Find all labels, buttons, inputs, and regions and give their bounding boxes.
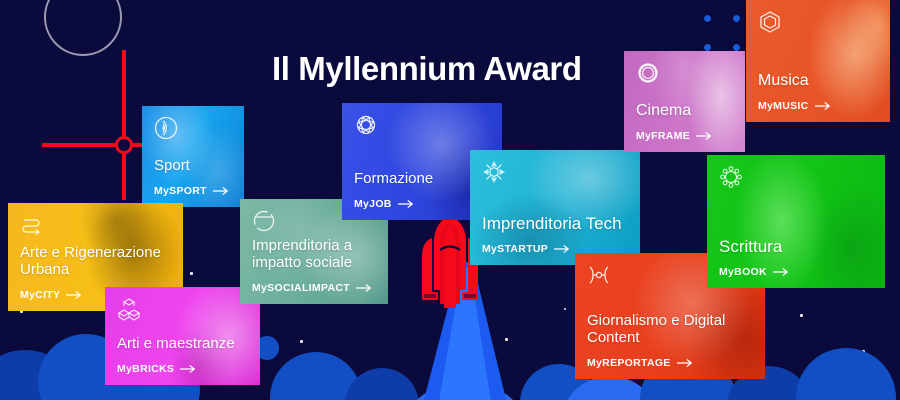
arrow-right-icon bbox=[356, 283, 372, 293]
arrow-right-icon bbox=[66, 290, 82, 300]
arrow-right-icon bbox=[696, 131, 712, 141]
arrow-right-icon bbox=[554, 244, 570, 254]
sound-waves-icon bbox=[154, 116, 178, 140]
category-card-imprenditoria-tech[interactable]: Imprenditoria Tech MySTARTUP bbox=[470, 150, 640, 265]
card-title: Cinema bbox=[636, 102, 733, 120]
broken-circle-icon bbox=[252, 209, 276, 233]
arrow-right-icon bbox=[677, 358, 693, 368]
card-title: Imprenditoria a impatto sociale bbox=[252, 238, 376, 272]
card-link-label: MySPORT bbox=[154, 185, 207, 197]
card-title: Sport bbox=[154, 158, 232, 175]
cubes-icon bbox=[117, 297, 141, 321]
page-title: Il Myllennium Award bbox=[272, 50, 582, 88]
arrow-right-icon bbox=[815, 101, 831, 111]
card-title: Imprenditoria Tech bbox=[482, 214, 628, 233]
arrow-right-icon bbox=[213, 186, 229, 196]
knot-rosette-icon bbox=[354, 113, 378, 137]
card-link-label: MySOCIALIMPACT bbox=[252, 282, 350, 294]
card-title: Musica bbox=[758, 72, 878, 90]
card-link-label: MyREPORTAGE bbox=[587, 357, 671, 369]
card-link-mymusic[interactable]: MyMUSIC bbox=[758, 100, 878, 112]
arrow-right-icon bbox=[398, 199, 414, 209]
card-link-label: MyCITY bbox=[20, 289, 60, 301]
card-title: Arti e maestranze bbox=[117, 336, 248, 353]
card-title: Scrittura bbox=[719, 237, 873, 256]
starburst-icon bbox=[482, 160, 506, 184]
category-card-cinema[interactable]: Cinema MyFRAME bbox=[624, 51, 745, 152]
circle-outline-decoration bbox=[44, 0, 122, 56]
category-card-scrittura[interactable]: Scrittura MyBOOK bbox=[707, 155, 885, 288]
card-link-mybook[interactable]: MyBOOK bbox=[719, 266, 873, 278]
card-title: Arte e Rigenerazione Urbana bbox=[20, 245, 171, 279]
dotted-ring-icon bbox=[636, 61, 660, 85]
arrow-right-icon bbox=[773, 267, 789, 277]
card-title: Giornalismo e Digital Content bbox=[587, 313, 753, 347]
card-link-mysport[interactable]: MySPORT bbox=[154, 185, 232, 197]
card-link-label: MyBRICKS bbox=[117, 363, 174, 375]
flow-lines-icon bbox=[20, 213, 44, 237]
hero-banner: Il Myllennium Award Sport MySPORT bbox=[0, 0, 900, 400]
card-link-label: MySTARTUP bbox=[482, 243, 548, 255]
card-link-label: MyJOB bbox=[354, 198, 392, 210]
card-link-mybricks[interactable]: MyBRICKS bbox=[117, 363, 248, 375]
card-link-myframe[interactable]: MyFRAME bbox=[636, 130, 733, 142]
card-link-label: MyMUSIC bbox=[758, 100, 809, 112]
card-link-label: MyFRAME bbox=[636, 130, 690, 142]
card-link-myreportage[interactable]: MyREPORTAGE bbox=[587, 357, 753, 369]
card-link-label: MyBOOK bbox=[719, 266, 767, 278]
category-card-musica[interactable]: Musica MyMUSIC bbox=[746, 0, 890, 122]
card-link-mysocialimpact[interactable]: MySOCIALIMPACT bbox=[252, 282, 376, 294]
category-card-sport[interactable]: Sport MySPORT bbox=[142, 106, 244, 207]
beaded-ring-icon bbox=[719, 165, 743, 189]
aperture-eye-icon bbox=[587, 263, 611, 287]
category-card-arti-e-maestranze[interactable]: Arti e maestranze MyBRICKS bbox=[105, 287, 260, 385]
hexagon-icon bbox=[758, 10, 782, 34]
arrow-right-icon bbox=[180, 364, 196, 374]
